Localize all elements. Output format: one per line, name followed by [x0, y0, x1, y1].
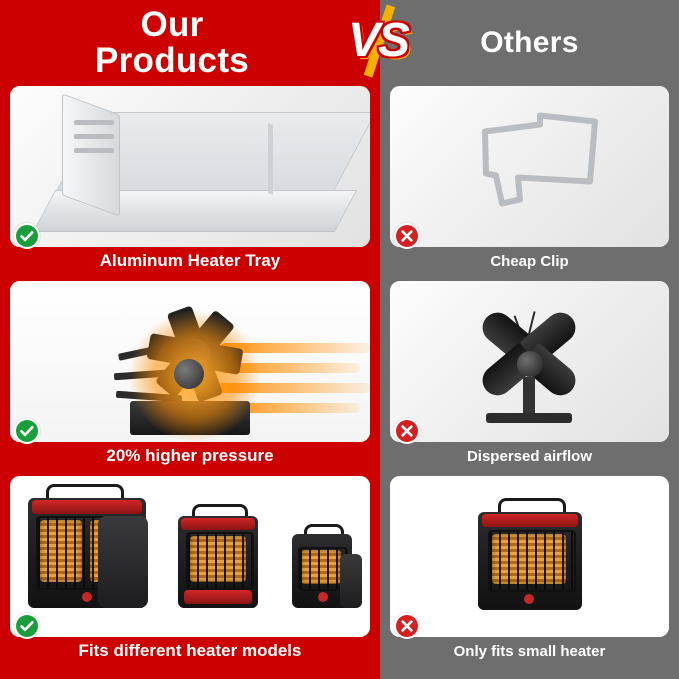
fan-stem [523, 377, 535, 417]
heater-top-panel [181, 518, 255, 530]
bent-wire-clip-art [390, 86, 669, 247]
our-products-title-line2: Products [95, 43, 249, 79]
heater-base-panel [184, 590, 252, 604]
our-products-header: Our Products [10, 0, 370, 86]
our-products-title: Our Products [95, 7, 285, 78]
fan-hub [517, 351, 543, 377]
our-row-3-caption: Fits different heater models [10, 637, 370, 665]
our-products-column: Our Products Aluminum [0, 0, 380, 679]
fan-hub [174, 359, 204, 389]
heater-knob [318, 592, 328, 602]
cross-circle-icon [394, 418, 420, 444]
vs-badge: VS [335, 10, 421, 72]
glowing-heater-fan-art [10, 281, 370, 442]
others-row-1-image [390, 86, 669, 247]
others-row-1-caption: Cheap Clip [390, 247, 669, 275]
check-circle-icon [14, 223, 40, 249]
our-row-1: Aluminum Heater Tray [10, 86, 370, 275]
others-row-3-image [390, 476, 669, 637]
others-column: Others Cheap Clip [380, 0, 679, 679]
our-row-3: Fits different heater models [10, 476, 370, 665]
heater-single [478, 512, 582, 610]
aluminum-heater-tray-art [10, 86, 370, 247]
check-circle-icon [14, 418, 40, 444]
others-row-2: Dispersed airflow [390, 281, 669, 470]
our-row-2-image [10, 281, 370, 442]
tray-side-bracket [62, 93, 120, 216]
our-row-2-caption: 20% higher pressure [10, 442, 370, 470]
heater-medium [178, 516, 258, 608]
vs-label: VS [348, 17, 408, 65]
others-row-1: Cheap Clip [390, 86, 669, 275]
heater-knob [524, 594, 534, 604]
heater-knob [82, 592, 92, 602]
our-row-1-caption: Aluminum Heater Tray [10, 247, 370, 275]
heater-top-panel [482, 514, 578, 527]
others-title: Others [480, 28, 579, 59]
our-row-2: 20% higher pressure [10, 281, 370, 470]
our-row-1-image [10, 86, 370, 247]
heater-cage [488, 530, 576, 592]
check-circle-icon [14, 613, 40, 639]
others-row-2-caption: Dispersed airflow [390, 442, 669, 470]
comparison-board: Our Products Aluminum [0, 0, 679, 679]
tray-fin [268, 123, 273, 195]
tray-slot [74, 148, 114, 153]
heater-cage [186, 532, 254, 590]
heater-top-panel [32, 500, 142, 514]
our-products-title-line1: Our [95, 7, 249, 43]
tray-slot [74, 120, 114, 125]
tray-slot [74, 134, 114, 139]
fan-base [486, 413, 572, 423]
propane-canister [340, 554, 362, 608]
others-row-3-caption: Only fits small heater [390, 637, 669, 665]
propane-tank [98, 516, 148, 608]
cross-circle-icon [394, 223, 420, 249]
cross-circle-icon [394, 613, 420, 639]
our-row-3-image [10, 476, 370, 637]
others-row-2-image [390, 281, 669, 442]
others-row-3: Only fits small heater [390, 476, 669, 665]
others-header: Others [390, 0, 669, 86]
